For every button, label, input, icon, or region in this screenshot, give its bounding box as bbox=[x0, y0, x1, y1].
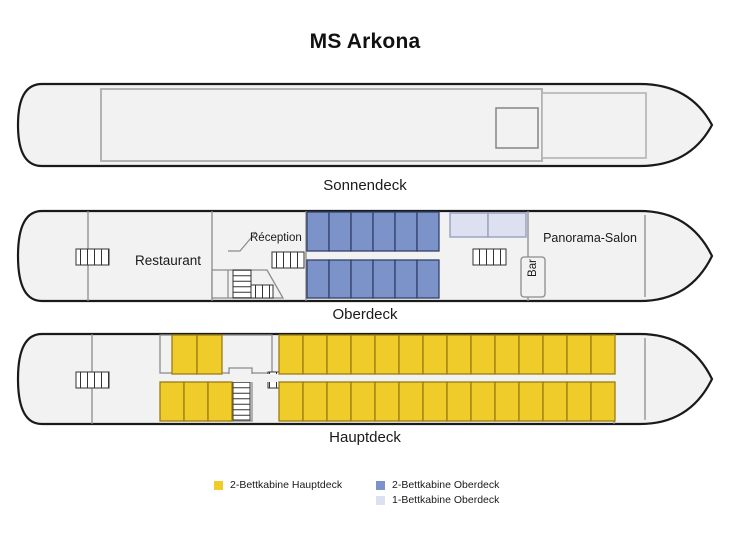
ladder-icon bbox=[473, 249, 506, 265]
room-label-panorama-salon: Panorama-Salon bbox=[534, 231, 646, 245]
cabin-2bed-hauptdeck[interactable] bbox=[447, 335, 471, 374]
cabin-2bed-oberdeck[interactable] bbox=[395, 260, 417, 298]
cabin-2bed-hauptdeck[interactable] bbox=[351, 335, 375, 374]
cabin-2bed-hauptdeck[interactable] bbox=[423, 335, 447, 374]
cabin-2bed-oberdeck[interactable] bbox=[373, 212, 395, 251]
wheelhouse-square bbox=[496, 108, 538, 148]
cabin-2bed-hauptdeck[interactable] bbox=[184, 382, 208, 421]
cabin-2bed-oberdeck[interactable] bbox=[417, 260, 439, 298]
room-label-reception: Réception bbox=[250, 232, 302, 244]
cabin-2bed-hauptdeck[interactable] bbox=[351, 382, 375, 421]
legend-column-right: 2-Bettkabine Oberdeck 1-Bettkabine Oberd… bbox=[376, 479, 499, 509]
cabin-2bed-hauptdeck[interactable] bbox=[197, 335, 222, 374]
cabin-2bed-oberdeck[interactable] bbox=[351, 260, 373, 298]
cabin-row-hauptdeck-bottom bbox=[160, 382, 615, 421]
legend-swatch-2bed-oberdeck bbox=[376, 481, 385, 490]
cabin-2bed-hauptdeck[interactable] bbox=[279, 382, 303, 421]
legend: 2-Bettkabine Hauptdeck 2-Bettkabine Ober… bbox=[0, 475, 730, 515]
corridor bbox=[150, 374, 620, 382]
cabin-2bed-hauptdeck[interactable] bbox=[519, 382, 543, 421]
cabin-row-oberdeck-bottom bbox=[307, 260, 439, 298]
legend-label: 2-Bettkabine Hauptdeck bbox=[230, 479, 342, 491]
cabin-2bed-hauptdeck[interactable] bbox=[519, 335, 543, 374]
cabin-2bed-oberdeck[interactable] bbox=[329, 260, 351, 298]
stairs-icon bbox=[233, 378, 250, 420]
cabin-2bed-oberdeck[interactable] bbox=[373, 260, 395, 298]
stairs-icon bbox=[233, 270, 251, 298]
cabin-2bed-hauptdeck[interactable] bbox=[567, 335, 591, 374]
legend-label: 2-Bettkabine Oberdeck bbox=[392, 479, 499, 491]
ladder-icon bbox=[251, 285, 273, 298]
deck-label-sonnendeck: Sonnendeck bbox=[0, 177, 730, 194]
cabin-2bed-oberdeck[interactable] bbox=[329, 212, 351, 251]
cabin-2bed-hauptdeck[interactable] bbox=[375, 335, 399, 374]
cabin-2bed-hauptdeck[interactable] bbox=[471, 335, 495, 374]
ladder-icon bbox=[272, 252, 304, 268]
cabin-2bed-oberdeck[interactable] bbox=[395, 212, 417, 251]
room-label-bar: Bar bbox=[527, 254, 539, 282]
cabin-2bed-hauptdeck[interactable] bbox=[172, 335, 197, 374]
legend-label: 1-Bettkabine Oberdeck bbox=[392, 494, 499, 506]
cabin-2bed-hauptdeck[interactable] bbox=[327, 382, 351, 421]
page-title: MS Arkona bbox=[0, 30, 730, 54]
cabin-2bed-hauptdeck[interactable] bbox=[399, 382, 423, 421]
cabin-2bed-hauptdeck[interactable] bbox=[375, 382, 399, 421]
cabin-2bed-hauptdeck[interactable] bbox=[543, 335, 567, 374]
cabin-2bed-oberdeck[interactable] bbox=[307, 260, 329, 298]
legend-item: 1-Bettkabine Oberdeck bbox=[376, 494, 499, 506]
legend-column-left: 2-Bettkabine Hauptdeck bbox=[214, 479, 342, 494]
cabin-2bed-hauptdeck[interactable] bbox=[327, 335, 351, 374]
deck-sonnendeck bbox=[0, 80, 730, 170]
sundeck-aft-block bbox=[542, 93, 646, 158]
cabin-1bed-oberdeck[interactable] bbox=[450, 213, 488, 237]
cabin-2bed-hauptdeck[interactable] bbox=[208, 382, 232, 421]
cabin-2bed-oberdeck[interactable] bbox=[351, 212, 373, 251]
sundeck-structure bbox=[101, 89, 542, 161]
legend-item: 2-Bettkabine Hauptdeck bbox=[214, 479, 342, 491]
deck-hauptdeck bbox=[0, 330, 730, 428]
cabin-2bed-hauptdeck[interactable] bbox=[423, 382, 447, 421]
cabin-2bed-hauptdeck[interactable] bbox=[495, 382, 519, 421]
legend-swatch-1bed-oberdeck bbox=[376, 496, 385, 505]
cabin-2bed-oberdeck[interactable] bbox=[417, 212, 439, 251]
deck-label-oberdeck: Oberdeck bbox=[0, 306, 730, 323]
cabin-2bed-hauptdeck[interactable] bbox=[447, 382, 471, 421]
room-label-restaurant: Restaurant bbox=[118, 253, 218, 268]
legend-swatch-2bed-hauptdeck bbox=[214, 481, 223, 490]
cabin-2bed-hauptdeck[interactable] bbox=[495, 335, 519, 374]
cabin-1bed-oberdeck[interactable] bbox=[488, 213, 526, 237]
deck-label-hauptdeck: Hauptdeck bbox=[0, 429, 730, 446]
deck-plan-canvas: MS Arkona Sonnendeck bbox=[0, 0, 730, 545]
cabin-2bed-hauptdeck[interactable] bbox=[279, 335, 303, 374]
cabin-2bed-hauptdeck[interactable] bbox=[303, 382, 327, 421]
cabin-2bed-hauptdeck[interactable] bbox=[543, 382, 567, 421]
ladder-icon bbox=[76, 372, 109, 388]
cabin-2bed-hauptdeck[interactable] bbox=[160, 382, 184, 421]
deck-oberdeck bbox=[0, 207, 730, 305]
cabin-2bed-oberdeck[interactable] bbox=[307, 212, 329, 251]
legend-item: 2-Bettkabine Oberdeck bbox=[376, 479, 499, 491]
ladder-icon bbox=[76, 249, 109, 265]
cabin-2bed-hauptdeck[interactable] bbox=[567, 382, 591, 421]
cabin-2bed-hauptdeck[interactable] bbox=[471, 382, 495, 421]
cabin-2bed-hauptdeck[interactable] bbox=[303, 335, 327, 374]
cabin-2bed-hauptdeck[interactable] bbox=[591, 382, 615, 421]
cabin-2bed-hauptdeck[interactable] bbox=[399, 335, 423, 374]
cabin-2bed-hauptdeck[interactable] bbox=[591, 335, 615, 374]
